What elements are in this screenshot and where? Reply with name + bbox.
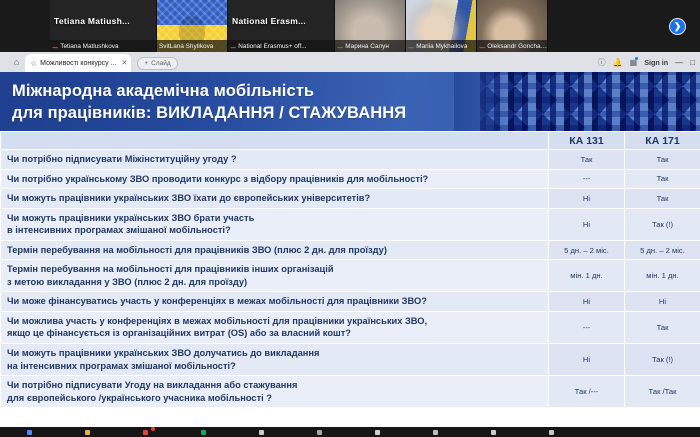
presentation-slide: Міжнародна академічна мобільність для пр… <box>0 72 700 437</box>
browser-tab[interactable]: ☆ Можливості конкурсу ... ✕ <box>25 54 131 72</box>
participant-tile-5[interactable]: ⚊ Mariia Mykhailova <box>406 0 477 52</box>
table-header-row: КА 131 КА 171 <box>1 132 700 150</box>
participant-tile-2[interactable]: SvitLana Shytikova <box>157 0 228 52</box>
participant-namebar-5: ⚊ Mariia Mykhailova <box>406 40 476 52</box>
table-cell-question: Термін перебування на мобільності для пр… <box>1 240 549 260</box>
comparison-table: КА 131 КА 171 Чи потрібно підписувати Мі… <box>0 131 700 408</box>
taskbar-item-browser[interactable] <box>0 427 58 437</box>
browser-tab-title: Можливості конкурсу ... <box>40 60 116 67</box>
table-row: Термін перебування на мобільності для пр… <box>1 260 700 292</box>
new-slide-label: Слайд <box>151 60 171 67</box>
participant-tile-1[interactable]: Tetiana Matiush... ⚊ Tetiana Matlushkova <box>50 0 157 52</box>
table-cell-ka131: --- <box>549 311 625 343</box>
table-cell-question: Чи потрібно українському ЗВО проводити к… <box>1 169 549 189</box>
participant-tile-3[interactable]: National Erasm... ⚊ National Erasmus+ of… <box>228 0 335 52</box>
mic-muted-icon: ⚊ <box>408 43 414 50</box>
table-cell-ka171: Так <box>625 311 700 343</box>
new-slide-button[interactable]: + Слайд <box>137 57 177 70</box>
tabstrip-gap <box>0 52 8 72</box>
table-cell-question: Чи можуть працівники українських ЗВО дол… <box>1 344 549 376</box>
table-cell-ka131: Ні <box>549 189 625 209</box>
table-cell-ka171: мін. 1 дн. <box>625 260 700 292</box>
table-cell-question: Чи потрібно підписувати Міжінституційну … <box>1 150 549 170</box>
mic-muted-icon: ⚊ <box>52 43 58 50</box>
help-circle-icon[interactable]: ⓘ <box>598 57 606 68</box>
screen: Tetiana Matiush... ⚊ Tetiana Matlushkova… <box>0 0 700 437</box>
table-cell-question: Чи може фінансуватись участь у конференц… <box>1 292 549 312</box>
participant-tile-6[interactable]: ⚊ Oleksandr Goncharov <box>477 0 548 52</box>
table-cell-question: Чи потрібно підписувати Угоду на виклада… <box>1 376 549 408</box>
slide-banner: Міжнародна академічна мобільність для пр… <box>0 72 700 131</box>
notification-dot <box>635 57 638 60</box>
table-cell-ka171: Ні <box>625 292 700 312</box>
table-header-ka131: КА 131 <box>549 132 625 150</box>
participant-name-5: Mariia Mykhailova <box>416 43 467 50</box>
table-cell-ka131: Так /--- <box>549 376 625 408</box>
participant-name-1: Tetiana Matlushkova <box>60 43 118 50</box>
taskbar-item-word[interactable] <box>464 427 522 437</box>
taskbar-item-explorer[interactable] <box>58 427 116 437</box>
participant-namebar-2: SvitLana Shytikova <box>157 40 227 52</box>
table-cell-ka171: Так <box>625 150 700 170</box>
table-cell-ka131: мін. 1 дн. <box>549 260 625 292</box>
table-cell-ka171: Так (!) <box>625 208 700 240</box>
participant-name-3: National Erasmus+ off... <box>238 43 306 50</box>
slide-title-line2: для працівників: ВИКЛАДАННЯ / СТАЖУВАННЯ <box>12 103 700 125</box>
table-row: Чи можуть працівники українських ЗВО дол… <box>1 344 700 376</box>
mic-muted-icon: ⚊ <box>337 43 343 50</box>
taskbar-item-settings[interactable] <box>290 427 348 437</box>
mic-muted-icon: ⚊ <box>230 43 236 50</box>
video-filmstrip: Tetiana Matiush... ⚊ Tetiana Matlushkova… <box>0 0 700 52</box>
taskbar-badge <box>151 427 155 431</box>
taskbar-item-folder[interactable] <box>232 427 290 437</box>
browser-tabstrip: ⌂ ☆ Можливості конкурсу ... ✕ + Слайд ⓘ … <box>0 52 700 72</box>
table-row: Чи потрібно українському ЗВО проводити к… <box>1 169 700 189</box>
table-cell-ka171: Так (!) <box>625 344 700 376</box>
maximize-icon[interactable]: □ <box>690 58 695 67</box>
table-cell-ka171: Так <box>625 169 700 189</box>
participant-tile-4[interactable]: ⚊ Марина Салун <box>335 0 406 52</box>
table-cell-question: Термін перебування на мобільності для пр… <box>1 260 549 292</box>
table-cell-ka131: --- <box>549 169 625 189</box>
table-row: Чи можуть працівники українських ЗВО їха… <box>1 189 700 209</box>
table-row: Чи може фінансуватись участь у конференц… <box>1 292 700 312</box>
participant-namebar-6: ⚊ Oleksandr Goncharov <box>477 40 547 52</box>
taskbar-item-chrome[interactable] <box>348 427 406 437</box>
table-row: Чи можлива участь у конференціях в межах… <box>1 311 700 343</box>
sign-in-button[interactable]: Sign in <box>644 58 668 67</box>
table-cell-question: Чи можлива участь у конференціях в межах… <box>1 311 549 343</box>
minimize-icon[interactable]: — <box>675 58 683 67</box>
browser-controls: ⓘ 🔔 ▦ Sign in — □ <box>598 52 700 72</box>
table-cell-ka131: Ні <box>549 344 625 376</box>
taskbar-item-pdf[interactable] <box>116 427 174 437</box>
table-body: Чи потрібно підписувати Міжінституційну … <box>1 150 700 408</box>
table-row: Чи потрібно підписувати Угоду на виклада… <box>1 376 700 408</box>
filmstrip-left-pad <box>0 0 50 52</box>
plus-icon: + <box>144 60 148 67</box>
table-cell-ka171: Так /Так <box>625 376 700 408</box>
windows-taskbar <box>0 427 700 437</box>
chevron-right-icon[interactable]: ❯ <box>669 18 686 35</box>
apps-grid-icon[interactable]: ▦ <box>630 58 638 67</box>
table-cell-ka171: Так <box>625 189 700 209</box>
bell-icon[interactable]: 🔔 <box>613 58 623 67</box>
page-title: Міжнародна академічна мобільність для пр… <box>0 72 700 125</box>
table-cell-question: Чи можуть працівники українських ЗВО їха… <box>1 189 549 209</box>
taskbar-item-zoom[interactable] <box>406 427 464 437</box>
table-row: Чи потрібно підписувати Міжінституційну … <box>1 150 700 170</box>
table-row: Термін перебування на мобільності для пр… <box>1 240 700 260</box>
slide-title-line1: Міжнародна академічна мобільність <box>12 82 314 100</box>
participant-name-6: Oleksandr Goncharov <box>487 43 547 50</box>
participant-name-4: Марина Салун <box>345 43 389 50</box>
table-cell-ka131: Ні <box>549 208 625 240</box>
taskbar-item-powerpoint[interactable] <box>522 427 580 437</box>
table-cell-ka171: 5 дн. – 2 міс. <box>625 240 700 260</box>
taskbar-item-excel[interactable] <box>174 427 232 437</box>
participant-name-2: SvitLana Shytikova <box>159 43 213 50</box>
table-cell-ka131: 5 дн. – 2 міс. <box>549 240 625 260</box>
participant-namebar-4: ⚊ Марина Салун <box>335 40 405 52</box>
table-cell-question: Чи можуть працівники українських ЗВО бра… <box>1 208 549 240</box>
participant-display-name-1: Tetiana Matiush... <box>54 16 130 26</box>
home-icon[interactable]: ⌂ <box>8 52 25 72</box>
table-header-ka171: КА 171 <box>625 132 700 150</box>
mic-muted-icon: ⚊ <box>479 43 485 50</box>
table-cell-ka131: Ні <box>549 292 625 312</box>
star-icon: ☆ <box>30 59 37 68</box>
participant-namebar-3: ⚊ National Erasmus+ off... <box>228 40 334 52</box>
table-header-question <box>1 132 549 150</box>
close-icon[interactable]: ✕ <box>119 59 127 67</box>
table-row: Чи можуть працівники українських ЗВО бра… <box>1 208 700 240</box>
participant-namebar-1: ⚊ Tetiana Matlushkova <box>50 40 156 52</box>
participant-display-name-3: National Erasm... <box>232 16 306 26</box>
table-cell-ka131: Так <box>549 150 625 170</box>
